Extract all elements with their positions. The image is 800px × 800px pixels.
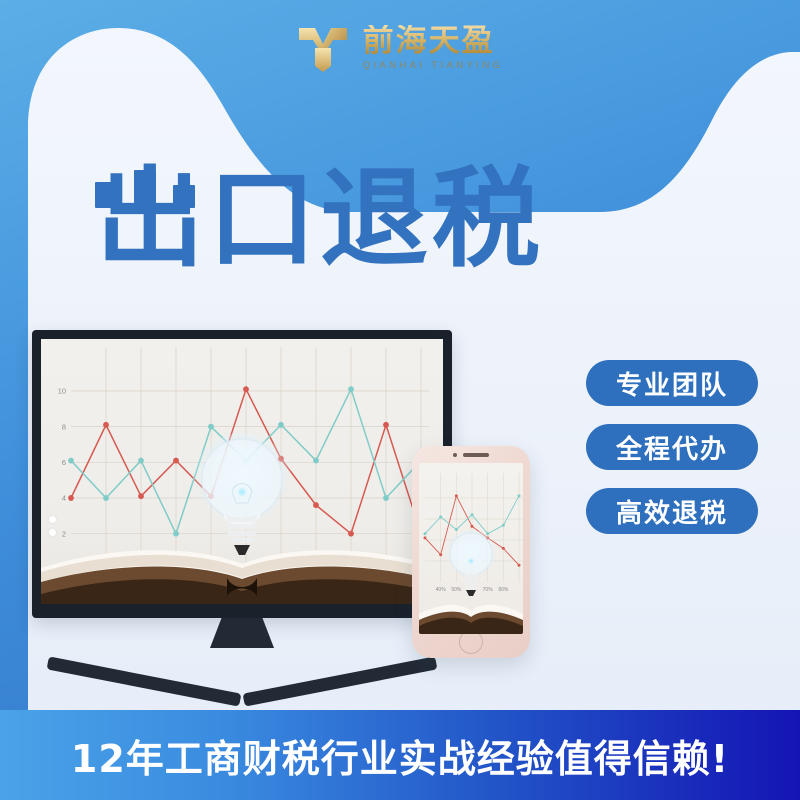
brand-name-cn: 前海天盈 [363, 25, 495, 58]
badge-full-agency[interactable]: 全程代办 [586, 424, 758, 470]
svg-text:70%: 70% [307, 575, 324, 585]
svg-text:30%: 30% [167, 575, 184, 585]
poster-canvas: 前海天盈 QIANHAI TIANYING 出口退税 专业团队 全程代办 高效退… [0, 0, 800, 800]
svg-text:50%: 50% [237, 575, 254, 585]
page-title: 出口退税 [96, 160, 544, 281]
monitor-stand-base [32, 646, 452, 694]
bottom-banner: 12年工商财税行业实战经验值得信赖! [0, 710, 800, 800]
svg-text:8: 8 [62, 422, 66, 431]
svg-text:10%: 10% [97, 575, 114, 585]
badge-efficient-refund[interactable]: 高效退税 [586, 488, 758, 534]
svg-text:40%: 40% [202, 575, 219, 585]
svg-text:20%: 20% [132, 575, 149, 585]
speaker-grille-icon [463, 453, 489, 457]
screen-indicator-dots [49, 516, 56, 542]
desktop-monitor: 024681010%20%30%40%50%60%70%80%90%100% [32, 330, 452, 694]
phone-earpiece [453, 453, 489, 457]
front-camera-icon [453, 453, 457, 457]
trifold-y-logo-icon [297, 22, 349, 74]
phone-lightbulb-icon [444, 528, 498, 605]
brand-logo: 前海天盈 QIANHAI TIANYING [0, 0, 800, 96]
smartphone: 40%50%70%80% [412, 446, 530, 658]
banner-text: 12年工商财税行业实战经验值得信赖! [71, 728, 729, 783]
feature-badge-list: 专业团队 全程代办 高效退税 [586, 360, 758, 534]
svg-text:10: 10 [58, 387, 66, 396]
phone-screen: 40%50%70%80% [419, 463, 523, 634]
monitor-bezel: 024681010%20%30%40%50%60%70%80%90%100% [32, 330, 452, 618]
svg-text:2: 2 [62, 529, 66, 538]
svg-text:80%: 80% [498, 587, 509, 593]
svg-text:4: 4 [62, 494, 66, 503]
svg-text:90%: 90% [377, 575, 394, 585]
monitor-stand-neck [210, 618, 274, 648]
phone-open-book-icon [419, 600, 523, 634]
brand-name-en: QIANHAI TIANYING [363, 60, 504, 71]
svg-text:6: 6 [62, 458, 66, 467]
svg-text:80%: 80% [342, 575, 359, 585]
monitor-screen: 024681010%20%30%40%50%60%70%80%90%100% [41, 339, 443, 604]
badge-professional-team[interactable]: 专业团队 [586, 360, 758, 406]
lightbulb-icon [190, 429, 294, 572]
svg-text:60%: 60% [272, 575, 289, 585]
svg-text:0: 0 [62, 565, 66, 574]
